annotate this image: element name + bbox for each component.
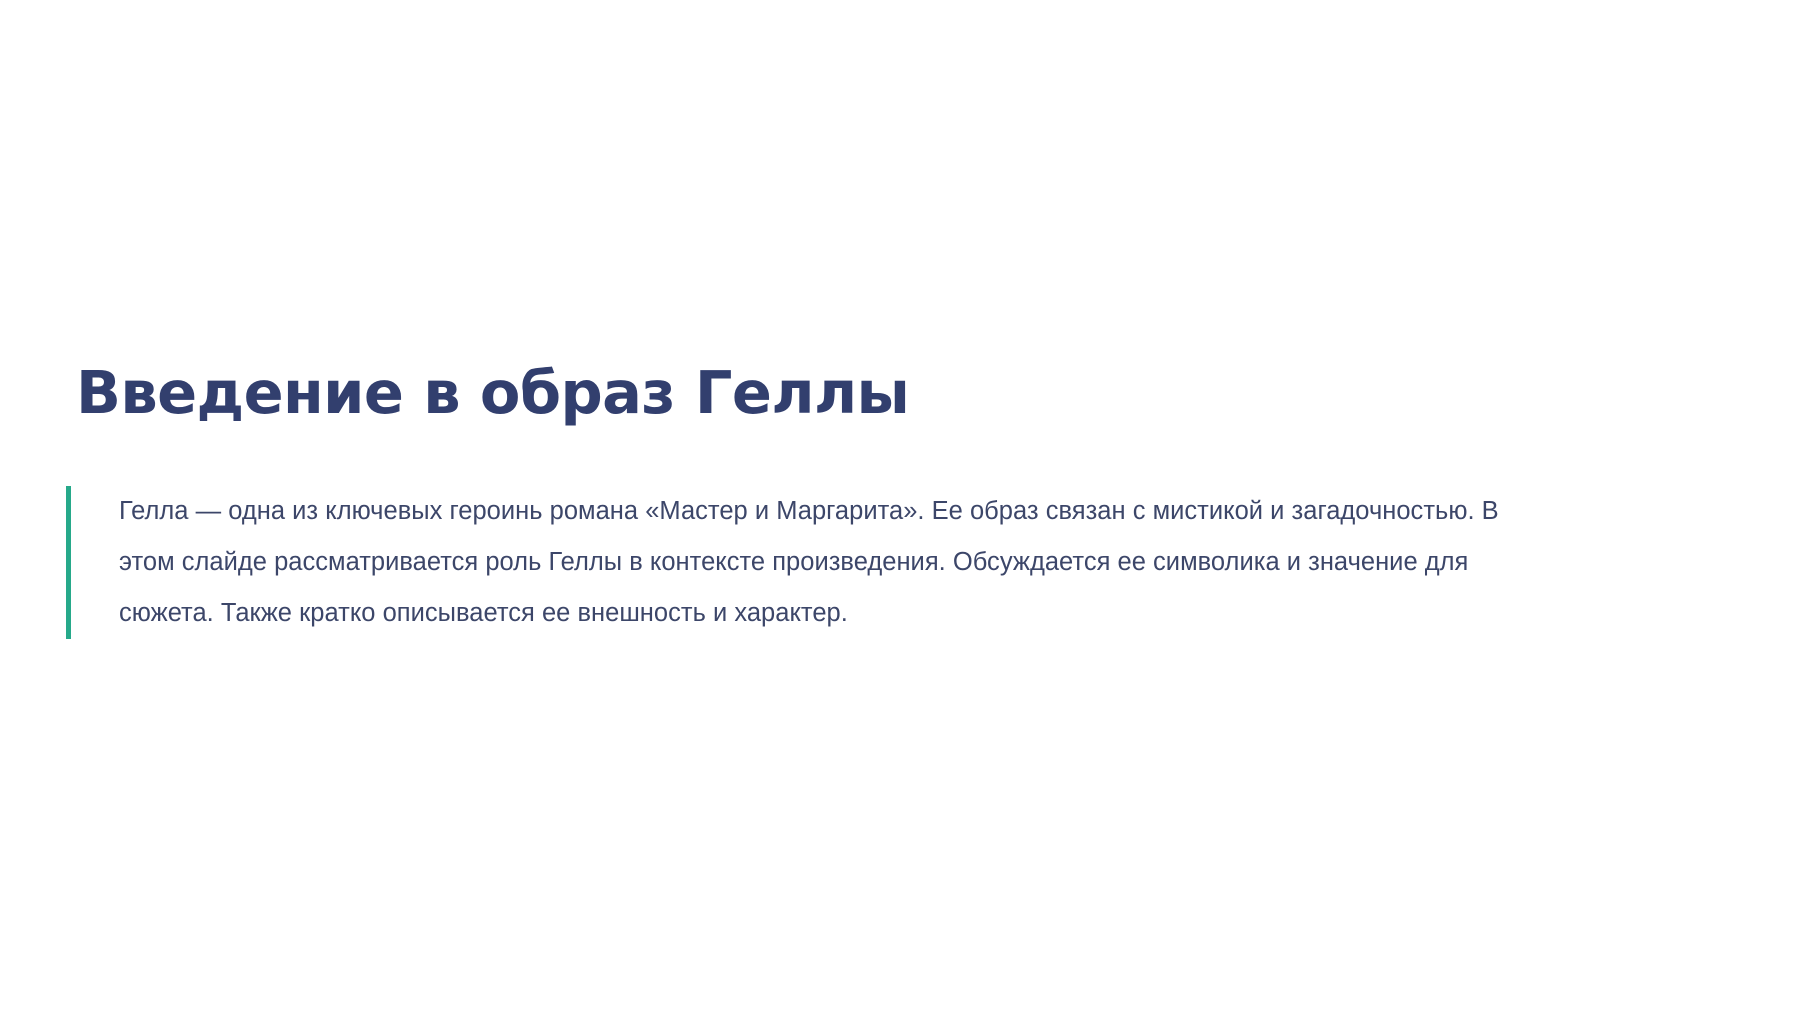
page-title: Введение в образ Геллы	[76, 362, 1636, 425]
body-text-container: Гелла — одна из ключевых героинь романа …	[71, 486, 1726, 639]
body-paragraph: Гелла — одна из ключевых героинь романа …	[119, 486, 1519, 639]
presentation-slide: Введение в образ Геллы Гелла — одна из к…	[0, 0, 1800, 1013]
body-callout: Гелла — одна из ключевых героинь романа …	[66, 486, 1726, 639]
